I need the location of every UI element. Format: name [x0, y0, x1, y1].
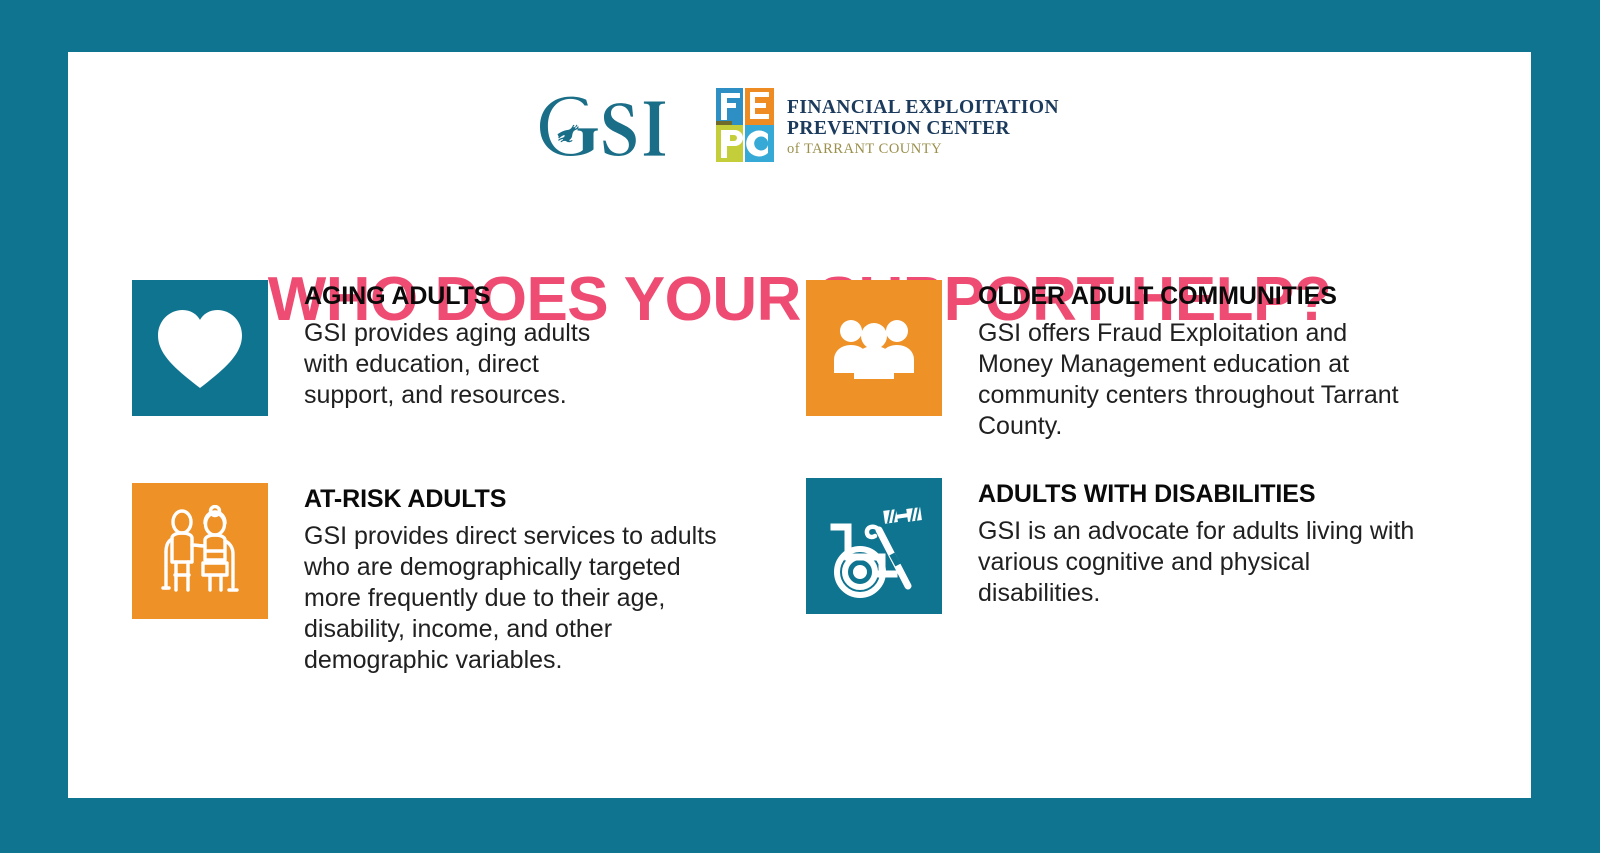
gsi-logo	[540, 96, 682, 158]
logo-row: FINANCIAL EXPLOITATION PREVENTION CENTER…	[68, 84, 1531, 170]
fepc-name-line-2: PREVENTION CENTER	[787, 119, 1059, 139]
infographic-canvas: FINANCIAL EXPLOITATION PREVENTION CENTER…	[0, 0, 1600, 853]
group-of-people-icon	[832, 315, 916, 381]
adults-with-disabilities-description: GSI is an advocate for adults living wit…	[978, 516, 1423, 609]
content-card: FINANCIAL EXPLOITATION PREVENTION CENTER…	[68, 52, 1531, 798]
fepc-name-line-1: FINANCIAL EXPLOITATION	[787, 98, 1059, 118]
adults-with-disabilities-body: ADULTS WITH DISABILITIES GSI is an advoc…	[978, 478, 1423, 609]
at-risk-adults-description: GSI provides direct services to adults w…	[304, 521, 719, 676]
adults-with-disabilities-icon-tile	[806, 478, 942, 614]
aging-adults-icon-tile	[132, 280, 268, 416]
wheelchair-cane-glasses-icon	[822, 494, 926, 598]
aging-adults-title: AGING ADULTS	[304, 282, 634, 311]
older-adult-communities-title: OLDER ADULT COMMUNITIES	[978, 282, 1418, 311]
elderly-couple-with-cane-icon	[155, 505, 245, 597]
older-adult-communities-description: GSI offers Fraud Exploitation and Money …	[978, 318, 1418, 442]
older-adult-communities-icon-tile	[806, 280, 942, 416]
heart-icon	[154, 306, 246, 390]
aging-adults-description: GSI provides aging adults with education…	[304, 318, 634, 411]
fepc-mark-icon	[716, 88, 774, 167]
list-item-adults-with-disabilities: ADULTS WITH DISABILITIES GSI is an advoc…	[806, 478, 1466, 614]
fepc-logo: FINANCIAL EXPLOITATION PREVENTION CENTER…	[716, 88, 1059, 167]
aging-adults-body: AGING ADULTS GSI provides aging adults w…	[304, 280, 634, 411]
list-item-older-adult-communities: OLDER ADULT COMMUNITIES GSI offers Fraud…	[806, 280, 1466, 442]
older-adult-communities-body: OLDER ADULT COMMUNITIES GSI offers Fraud…	[978, 280, 1418, 442]
adults-with-disabilities-title: ADULTS WITH DISABILITIES	[978, 480, 1423, 509]
list-item-aging-adults: AGING ADULTS GSI provides aging adults w…	[132, 280, 752, 416]
at-risk-adults-icon-tile	[132, 483, 268, 619]
fepc-name-line-3: of TARRANT COUNTY	[787, 142, 1059, 157]
at-risk-adults-title: AT-RISK ADULTS	[304, 485, 719, 514]
at-risk-adults-body: AT-RISK ADULTS GSI provides direct servi…	[304, 483, 719, 676]
list-item-at-risk-adults: AT-RISK ADULTS GSI provides direct servi…	[132, 483, 772, 676]
